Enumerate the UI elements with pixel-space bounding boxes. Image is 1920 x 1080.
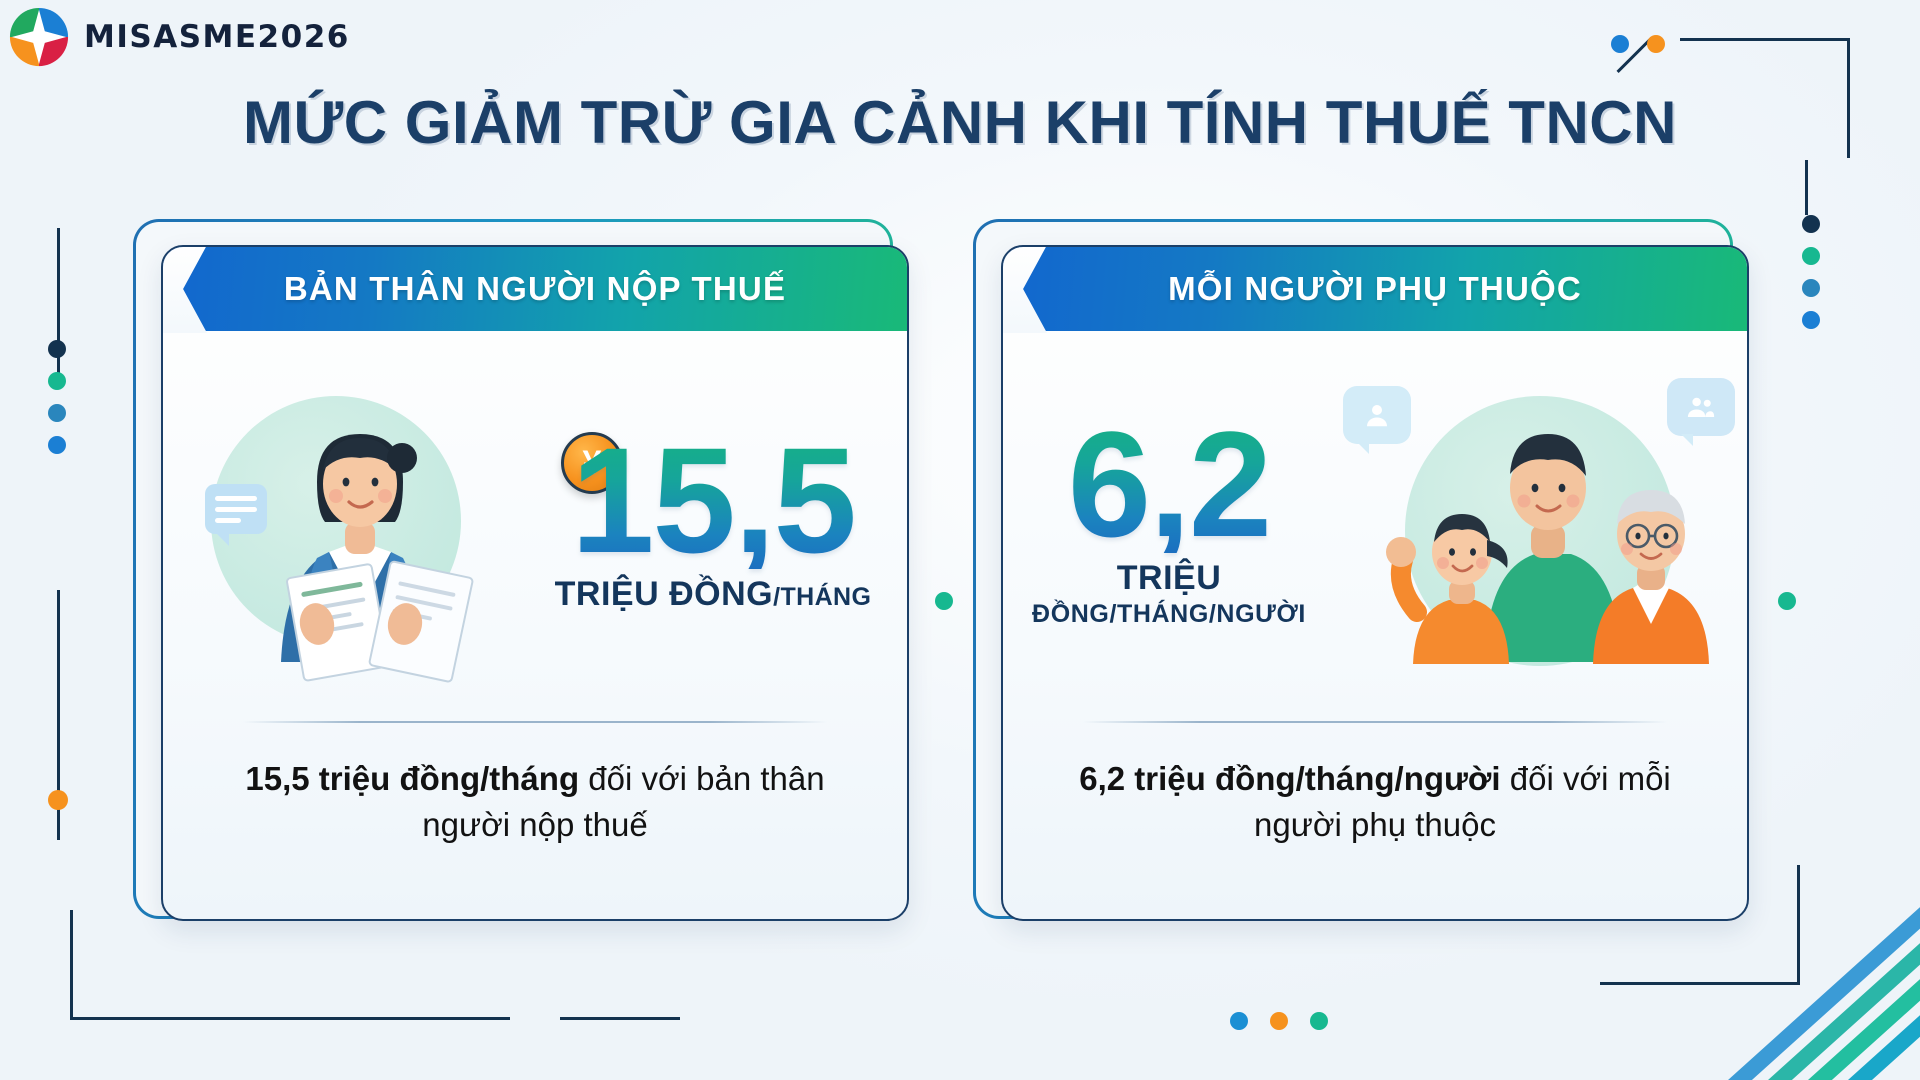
dot	[1802, 215, 1820, 233]
card-dependent: MỖI NGƯỜI PHỤ THUỘC	[991, 245, 1769, 935]
caption-highlight: 15,5 triệu đồng/tháng	[245, 760, 579, 797]
amount-unit-period: /THÁNG	[773, 583, 871, 611]
value-row-taxpayer: ¥ 15,5 TRIỆU ĐỒNG/THÁNG	[163, 337, 907, 717]
card-body-taxpayer: BẢN THÂN NGƯỜI NỘP THUẾ	[161, 245, 909, 921]
dot	[1310, 1012, 1328, 1030]
brand-name: MISASME2026	[84, 19, 350, 55]
dot	[1270, 1012, 1288, 1030]
card-taxpayer: BẢN THÂN NGƯỜI NỘP THUẾ	[151, 245, 929, 935]
value-row-dependent: 6,2 TRIỆU ĐỒNG/THÁNG/NGƯỜI	[1003, 337, 1747, 717]
chat-bubble-icon	[205, 484, 267, 534]
misa-four-color-circle-logo-icon	[8, 6, 70, 68]
card-caption-dependent: 6,2 triệu đồng/tháng/người đối với mỗi n…	[1037, 756, 1713, 847]
dot	[1230, 1012, 1248, 1030]
decor-dots-top-right	[1611, 35, 1665, 53]
person-bubble-icon	[1343, 386, 1411, 444]
amount-value: 15,5	[519, 431, 907, 569]
frame-line-bottom-a	[330, 1017, 510, 1020]
card-header-label: MỖI NGƯỜI PHỤ THUỘC	[1168, 270, 1582, 308]
value-block-taxpayer: 15,5 TRIỆU ĐỒNG/THÁNG	[519, 431, 907, 624]
frame-line-bottom-b	[560, 1017, 680, 1020]
card-header-dependent: MỖI NGƯỜI PHỤ THUỘC	[1003, 247, 1747, 331]
illustration-woman-holding-documents: ¥	[189, 362, 519, 692]
frame-line-right-upper	[1805, 160, 1808, 215]
caption-highlight: 6,2 triệu đồng/tháng/người	[1079, 760, 1500, 797]
card-divider	[1083, 721, 1667, 723]
amount-unit-sub: ĐỒNG/THÁNG/NGƯỜI	[1003, 600, 1335, 629]
dot	[1611, 35, 1629, 53]
amount-value: 6,2	[1003, 415, 1335, 553]
dot	[1647, 35, 1665, 53]
value-block-dependent: 6,2 TRIỆU ĐỒNG/THÁNG/NGƯỜI	[1003, 415, 1335, 639]
illustration-family-father-child-grandparent	[1335, 362, 1735, 692]
brand-logo[interactable]: MISASME2026	[8, 6, 350, 68]
cards-container: BẢN THÂN NGƯỜI NỘP THUẾ	[0, 245, 1920, 935]
card-caption-taxpayer: 15,5 triệu đồng/tháng đối với bản thân n…	[197, 756, 873, 847]
decor-dots-bottom	[1230, 1012, 1328, 1030]
card-divider	[243, 721, 827, 723]
card-header-taxpayer: BẢN THÂN NGƯỜI NỘP THUẾ	[163, 247, 907, 331]
card-body-dependent: MỖI NGƯỜI PHỤ THUỘC	[1001, 245, 1749, 921]
card-header-label: BẢN THÂN NGƯỜI NỘP THUẾ	[284, 270, 786, 308]
page-title: MỨC GIẢM TRỪ GIA CẢNH KHI TÍNH THUẾ TNCN	[0, 88, 1920, 157]
group-bubble-icon	[1667, 378, 1735, 436]
